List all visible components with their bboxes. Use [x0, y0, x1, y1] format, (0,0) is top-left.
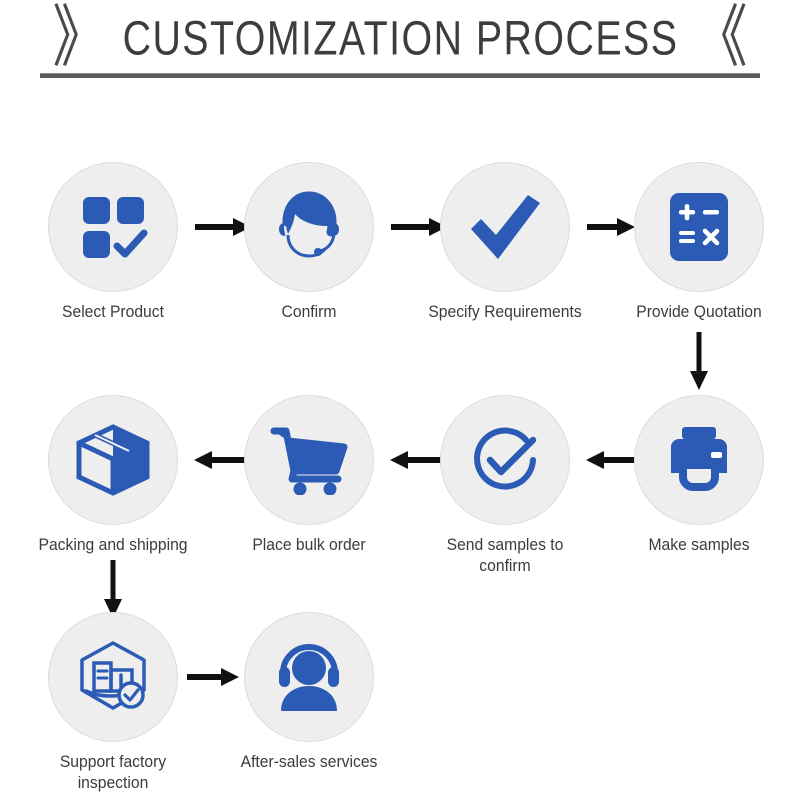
step-label: Specify Requirements — [420, 302, 591, 323]
step-after-sales-services[interactable]: After-sales services — [219, 612, 399, 773]
grid-check-icon — [77, 191, 149, 263]
step-icon-circle — [634, 162, 764, 292]
double-chevron-left-icon: 《 — [693, 4, 747, 72]
step-icon-circle — [244, 395, 374, 525]
step-label: Send samples to confirm — [420, 535, 591, 577]
step-icon-circle — [440, 395, 570, 525]
printer-icon — [661, 425, 737, 495]
step-icon-circle — [48, 162, 178, 292]
step-send-samples-to-confirm[interactable]: Send samples to confirm — [415, 395, 595, 577]
step-icon-circle — [48, 612, 178, 742]
step-place-bulk-order[interactable]: Place bulk order — [219, 395, 399, 556]
step-packing-and-shipping[interactable]: Packing and shipping — [23, 395, 203, 556]
circle-check-icon — [467, 422, 543, 498]
headphones-person-icon — [271, 641, 347, 713]
step-select-product[interactable]: Select Product — [23, 162, 203, 323]
step-icon-circle — [48, 395, 178, 525]
shopping-cart-icon — [270, 425, 348, 495]
step-label: Make samples — [614, 535, 785, 556]
step-icon-circle — [244, 162, 374, 292]
step-label: Support factory inspection — [28, 752, 199, 794]
title-row: 》 CUSTOMIZATION PROCESS 《 — [0, 8, 800, 68]
headset-agent-icon — [270, 188, 348, 266]
connector-arrow-down — [98, 558, 128, 620]
page-title: CUSTOMIZATION PROCESS — [122, 10, 678, 65]
step-icon-circle — [244, 612, 374, 742]
step-label: Provide Quotation — [614, 302, 785, 323]
double-chevron-right-icon: 》 — [53, 4, 107, 72]
checkmark-icon — [465, 187, 545, 267]
step-label: Confirm — [224, 302, 395, 323]
step-label: Select Product — [28, 302, 199, 323]
step-label: After-sales services — [224, 752, 395, 773]
step-icon-circle — [634, 395, 764, 525]
step-specify-requirements[interactable]: Specify Requirements — [415, 162, 595, 323]
step-icon-circle — [440, 162, 570, 292]
step-label: Packing and shipping — [28, 535, 199, 556]
step-confirm[interactable]: Confirm — [219, 162, 399, 323]
connector-arrow-down — [684, 330, 714, 392]
step-label: Place bulk order — [224, 535, 395, 556]
factory-shield-check-icon — [74, 638, 152, 716]
calculator-icon — [666, 190, 732, 264]
step-provide-quotation[interactable]: Provide Quotation — [609, 162, 789, 323]
step-support-factory-inspection[interactable]: Support factory inspection — [23, 612, 203, 794]
package-box-icon — [75, 423, 151, 497]
step-make-samples[interactable]: Make samples — [609, 395, 789, 556]
page-header: 》 CUSTOMIZATION PROCESS 《 — [0, 0, 800, 92]
title-divider — [40, 73, 760, 78]
